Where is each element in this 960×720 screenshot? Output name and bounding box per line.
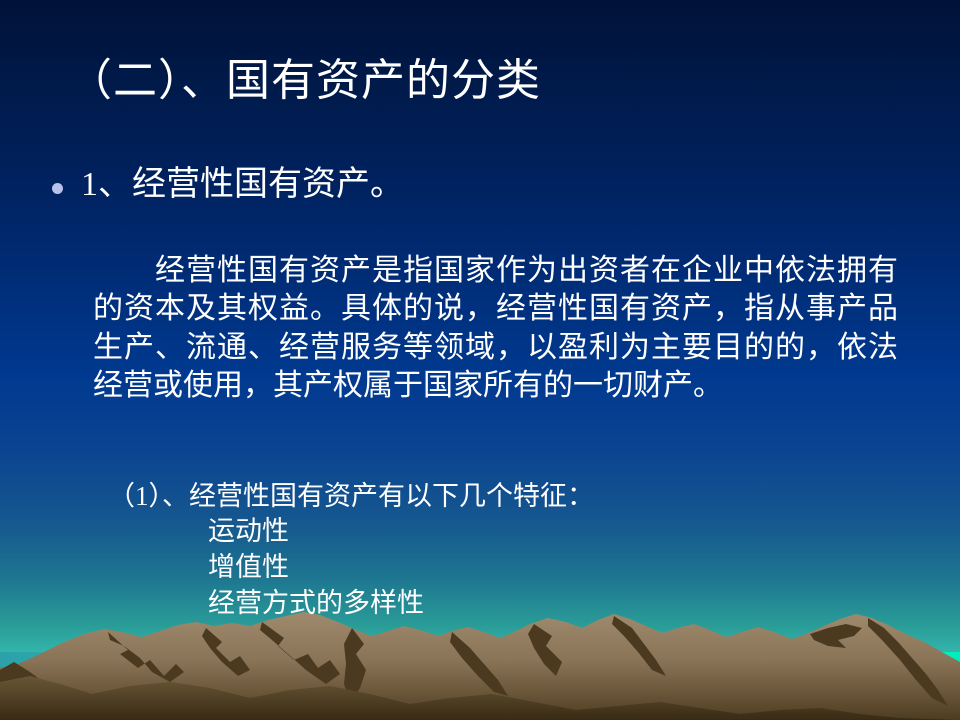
features-block: （1）、经营性国有资产有以下几个特征： 运动性 增值性 经营方式的多样性	[108, 478, 594, 622]
bullet-item-1: 1、经营性国有资产。	[52, 164, 404, 207]
features-list: 运动性 增值性 经营方式的多样性	[208, 514, 594, 622]
slide-content: （二）、国有资产的分类 1、经营性国有资产。 经营性国有资产是指国家作为出资者在…	[0, 0, 960, 720]
round-bullet-icon	[52, 183, 63, 194]
bullet-item-1-label: 1、经营性国有资产。	[81, 164, 404, 207]
feature-item-2: 增值性	[208, 550, 594, 586]
feature-item-3: 经营方式的多样性	[208, 586, 594, 622]
feature-item-1: 运动性	[208, 514, 594, 550]
body-paragraph: 经营性国有资产是指国家作为出资者在企业中依法拥有的资本及其权益。具体的说，经营性…	[93, 252, 898, 406]
features-heading: （1）、经营性国有资产有以下几个特征：	[108, 478, 594, 514]
slide-canvas: （二）、国有资产的分类 1、经营性国有资产。 经营性国有资产是指国家作为出资者在…	[0, 0, 960, 720]
slide-title: （二）、国有资产的分类	[68, 58, 541, 104]
